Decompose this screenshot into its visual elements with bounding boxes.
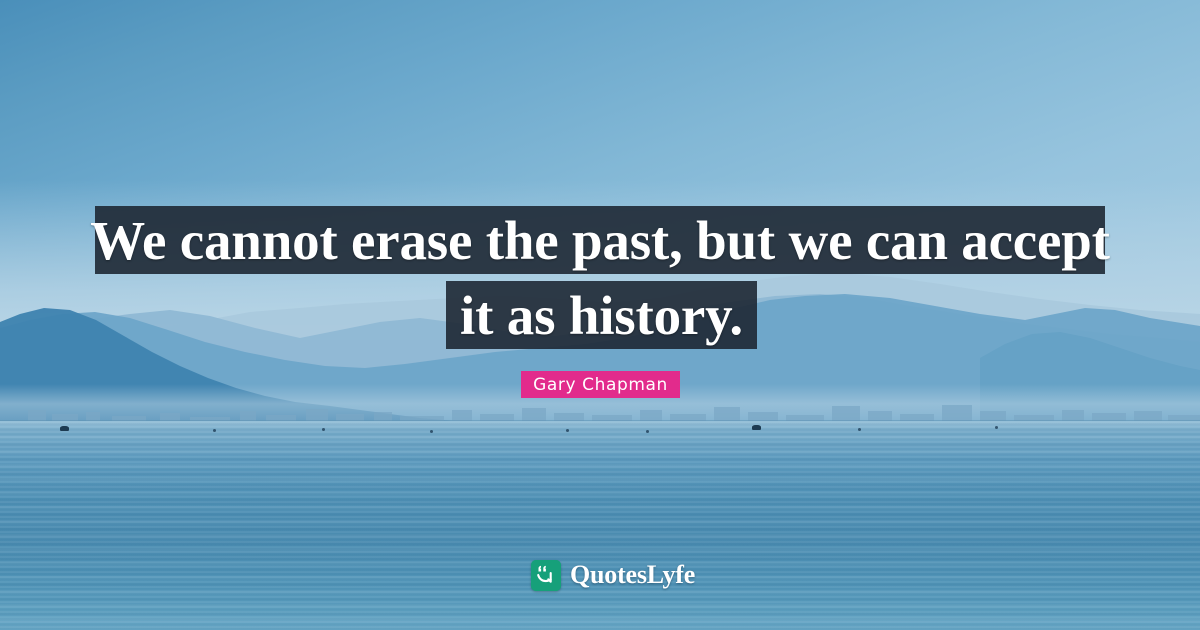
quote-smiley-icon bbox=[531, 560, 561, 591]
quote-line-1: We cannot erase the past, but we can acc… bbox=[95, 206, 1105, 274]
quote-block: We cannot erase the past, but we can acc… bbox=[0, 0, 1200, 630]
quote-image-card: We cannot erase the past, but we can acc… bbox=[0, 0, 1200, 630]
quoteslyfe-wordmark: QuotesLyfe bbox=[570, 560, 695, 590]
author-name-badge: Gary Chapman bbox=[521, 371, 680, 398]
quoteslyfe-logo[interactable]: QuotesLyfe bbox=[531, 559, 695, 591]
quote-line-2: it as history. bbox=[446, 281, 757, 349]
